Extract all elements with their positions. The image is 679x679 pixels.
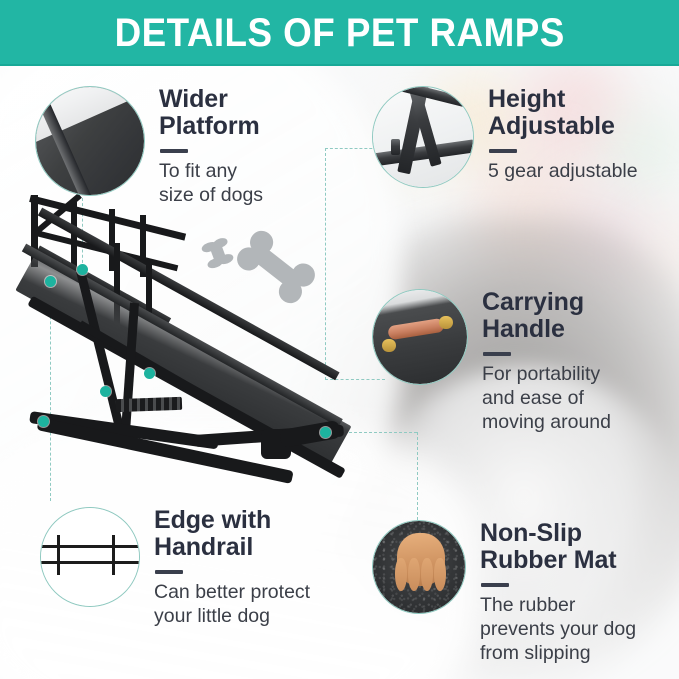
ramp-base-front-bar xyxy=(29,411,219,449)
header-banner: DETAILS OF PET RAMPS xyxy=(0,0,679,66)
handrail-line-diagram-icon xyxy=(41,508,139,606)
feature-edge-with-handrail[interactable]: Edge with Handrail Can better protect yo… xyxy=(40,507,310,629)
feature-divider-carrying-handle xyxy=(483,352,511,356)
bone-small-knob-1 xyxy=(211,236,228,249)
feature-non-slip-rubber-mat[interactable]: Non-Slip Rubber Mat The rubber prevents … xyxy=(372,520,636,665)
bone-small-shape xyxy=(195,234,241,272)
dog-paw-on-rubber-mat-photo-icon xyxy=(373,521,465,613)
ramp-rail-support-2 xyxy=(146,263,152,315)
callout-dot-joint-upper xyxy=(144,368,155,379)
feature-height-adjustable[interactable]: Height Adjustable 5 gear adjustable xyxy=(372,86,638,188)
ramp-handrail-post-3 xyxy=(109,209,115,271)
feature-wider-platform[interactable]: Wider Platform To fit any size of dogs xyxy=(35,86,263,208)
ramp-side-rail xyxy=(38,208,340,381)
feature-divider-non-slip-rubber-mat xyxy=(481,583,509,587)
feature-body-edge-with-handrail: Can better protect your little dog xyxy=(154,581,310,629)
connector-height-adjustable-vertical xyxy=(325,148,326,380)
ramp-base-long-bar xyxy=(37,417,294,484)
bone-small-knob-4 xyxy=(207,256,224,269)
handle-art xyxy=(373,290,467,384)
bone-large-shape xyxy=(227,219,325,315)
ramp-support-leg-main xyxy=(76,270,123,427)
joint-art xyxy=(373,87,473,187)
feature-thumb-edge-with-handrail[interactable] xyxy=(40,507,140,607)
feature-carrying-handle[interactable]: Carrying Handle For portability and ease… xyxy=(372,289,611,434)
feature-thumb-carrying-handle[interactable] xyxy=(372,289,468,385)
feature-text-edge-with-handrail: Edge with Handrail Can better protect yo… xyxy=(140,507,310,629)
feature-divider-edge-with-handrail xyxy=(155,570,183,574)
feature-heading-non-slip-rubber-mat: Non-Slip Rubber Mat xyxy=(480,520,636,574)
bone-icon-large xyxy=(227,219,325,315)
feature-heading-height-adjustable: Height Adjustable xyxy=(488,86,638,140)
infographic-page: DETAILS OF PET RAMPS Wider Platform To f… xyxy=(0,0,679,679)
handrail-diagram-art xyxy=(41,508,139,606)
feature-thumb-non-slip-rubber-mat[interactable] xyxy=(372,520,466,614)
ramp-platform-photo-icon xyxy=(36,87,144,195)
feature-divider-wider-platform xyxy=(160,149,188,153)
feature-text-non-slip-rubber-mat: Non-Slip Rubber Mat The rubber prevents … xyxy=(466,520,636,665)
adjustable-joint-photo-icon xyxy=(373,87,473,187)
bone-large-knob-2 xyxy=(232,243,264,276)
callout-dot-mat xyxy=(320,427,331,438)
callout-dot-handrail xyxy=(45,276,56,287)
bone-icon-small xyxy=(195,234,241,272)
ramp-base-rear-bar xyxy=(194,425,344,447)
feature-body-height-adjustable: 5 gear adjustable xyxy=(488,160,638,184)
ramp-handrail-post-2 xyxy=(71,202,77,266)
feature-heading-carrying-handle: Carrying Handle xyxy=(482,289,611,343)
feature-text-height-adjustable: Height Adjustable 5 gear adjustable xyxy=(474,86,638,184)
platform-surface-art xyxy=(36,87,144,195)
dog-paw xyxy=(393,521,448,589)
paw-toe-1 xyxy=(395,558,407,591)
paw-toe-4 xyxy=(434,558,446,591)
bone-small-bar xyxy=(209,243,227,263)
page-title: DETAILS OF PET RAMPS xyxy=(114,13,564,53)
feature-heading-edge-with-handrail: Edge with Handrail xyxy=(154,507,310,561)
rubber-mat-art xyxy=(373,521,465,613)
ramp-deck-bottom-edge xyxy=(27,296,345,479)
feature-divider-height-adjustable xyxy=(489,149,517,153)
callout-dot-joint-lower xyxy=(100,386,111,397)
feature-thumb-height-adjustable[interactable] xyxy=(372,86,474,188)
ramp-support-leg-rear xyxy=(121,303,139,428)
handrail-post-left xyxy=(57,535,60,574)
ramp-side-rail-lower xyxy=(36,246,171,326)
ramp-deck-edge xyxy=(22,244,343,427)
bone-large-knob-3 xyxy=(287,259,319,292)
handle-end-left xyxy=(382,339,396,352)
ramp-base-end-cap xyxy=(279,420,341,448)
feature-body-wider-platform: To fit any size of dogs xyxy=(159,160,263,208)
handle-end-right xyxy=(439,316,453,329)
callout-dot-platform xyxy=(77,264,88,275)
feature-body-carrying-handle: For portability and ease of moving aroun… xyxy=(482,363,611,434)
connector-edge-handrail-vertical xyxy=(50,281,51,501)
product-image-pet-ramp xyxy=(18,185,378,485)
ramp-handrail-post-4 xyxy=(140,215,146,277)
bone-large-knob-1 xyxy=(245,226,277,259)
feature-text-wider-platform: Wider Platform To fit any size of dogs xyxy=(145,86,263,208)
bone-large-knob-4 xyxy=(274,275,306,308)
feature-thumb-wider-platform[interactable] xyxy=(35,86,145,196)
ramp-base-foot xyxy=(261,429,291,459)
handrail-post-right xyxy=(112,535,115,574)
ramp-handrail-mid-bar xyxy=(31,229,178,271)
ramp-rail-support-1 xyxy=(114,243,120,339)
joint-notch xyxy=(391,139,400,155)
bone-small-knob-2 xyxy=(201,240,218,253)
joint-bar-horizontal xyxy=(373,139,473,167)
feature-body-non-slip-rubber-mat: The rubber prevents your dog from slippi… xyxy=(480,594,636,665)
bokeh-light-5 xyxy=(560,186,660,286)
ramp-gear-notches xyxy=(116,397,182,412)
connector-rubber-mat-vertical xyxy=(417,432,418,525)
feature-text-carrying-handle: Carrying Handle For portability and ease… xyxy=(468,289,611,434)
bone-small-knob-3 xyxy=(217,253,234,266)
bone-large-bar xyxy=(251,245,301,290)
ramp-support-leg-diagonal xyxy=(78,321,212,403)
paw-toe-3 xyxy=(421,558,433,591)
handle-strap xyxy=(387,318,445,341)
feature-heading-wider-platform: Wider Platform xyxy=(159,86,263,140)
paw-toe-2 xyxy=(408,558,420,591)
callout-dot-base xyxy=(38,416,49,427)
bokeh-light-7 xyxy=(640,216,679,296)
connector-wider-platform xyxy=(82,198,83,268)
leather-handle-photo-icon xyxy=(373,290,467,384)
ramp-deck-surface xyxy=(15,252,351,465)
